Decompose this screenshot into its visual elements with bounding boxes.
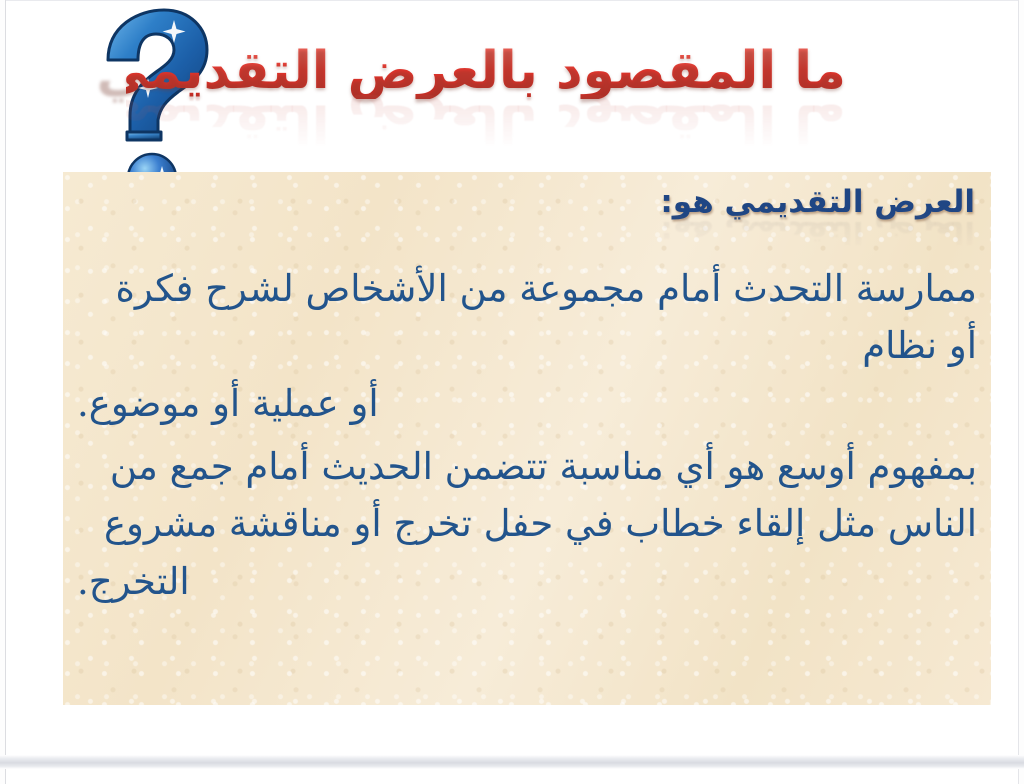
paragraph-2-line-3: التخرج. bbox=[77, 553, 977, 610]
slide-title: ما المقصود بالعرض التقديمي bbox=[126, 44, 846, 99]
paragraph-1-line-2: أو عملية أو موضوع. bbox=[77, 375, 977, 432]
panel-heading-reflection: العرض التقديمي هو: bbox=[660, 214, 975, 250]
paragraph-1: ممارسة التحدث أمام مجموعة من الأشخاص لشر… bbox=[77, 260, 977, 432]
slide-viewer: ما المقصود بالعرض التقديمي ما المقصود با… bbox=[0, 0, 1024, 784]
content-panel-inner: العرض التقديمي هو: العرض التقديمي هو: مم… bbox=[63, 172, 991, 705]
content-panel: العرض التقديمي هو: العرض التقديمي هو: مم… bbox=[63, 172, 991, 705]
panel-body: ممارسة التحدث أمام مجموعة من الأشخاص لشر… bbox=[77, 260, 977, 616]
panel-heading-block: العرض التقديمي هو: العرض التقديمي هو: bbox=[660, 184, 975, 250]
slide-divider bbox=[0, 755, 1024, 769]
slide-top-edge bbox=[6, 0, 1018, 1]
paragraph-2-line-1: بمفهوم أوسع هو أي مناسبة تتضمن الحديث أم… bbox=[77, 438, 977, 495]
paragraph-2: بمفهوم أوسع هو أي مناسبة تتضمن الحديث أم… bbox=[77, 438, 977, 610]
paragraph-2-line-2: الناس مثل إلقاء خطاب في حفل تخرج أو مناق… bbox=[77, 495, 977, 552]
paragraph-1-line-1: ممارسة التحدث أمام مجموعة من الأشخاص لشر… bbox=[77, 260, 977, 375]
presentation-slide[interactable]: ما المقصود بالعرض التقديمي ما المقصود با… bbox=[5, 0, 1019, 755]
next-slide-strip[interactable] bbox=[5, 769, 1019, 784]
slide-title-reflection: ما المقصود بالعرض التقديمي bbox=[126, 95, 846, 150]
slide-title-block: ما المقصود بالعرض التقديمي ما المقصود با… bbox=[126, 44, 846, 164]
